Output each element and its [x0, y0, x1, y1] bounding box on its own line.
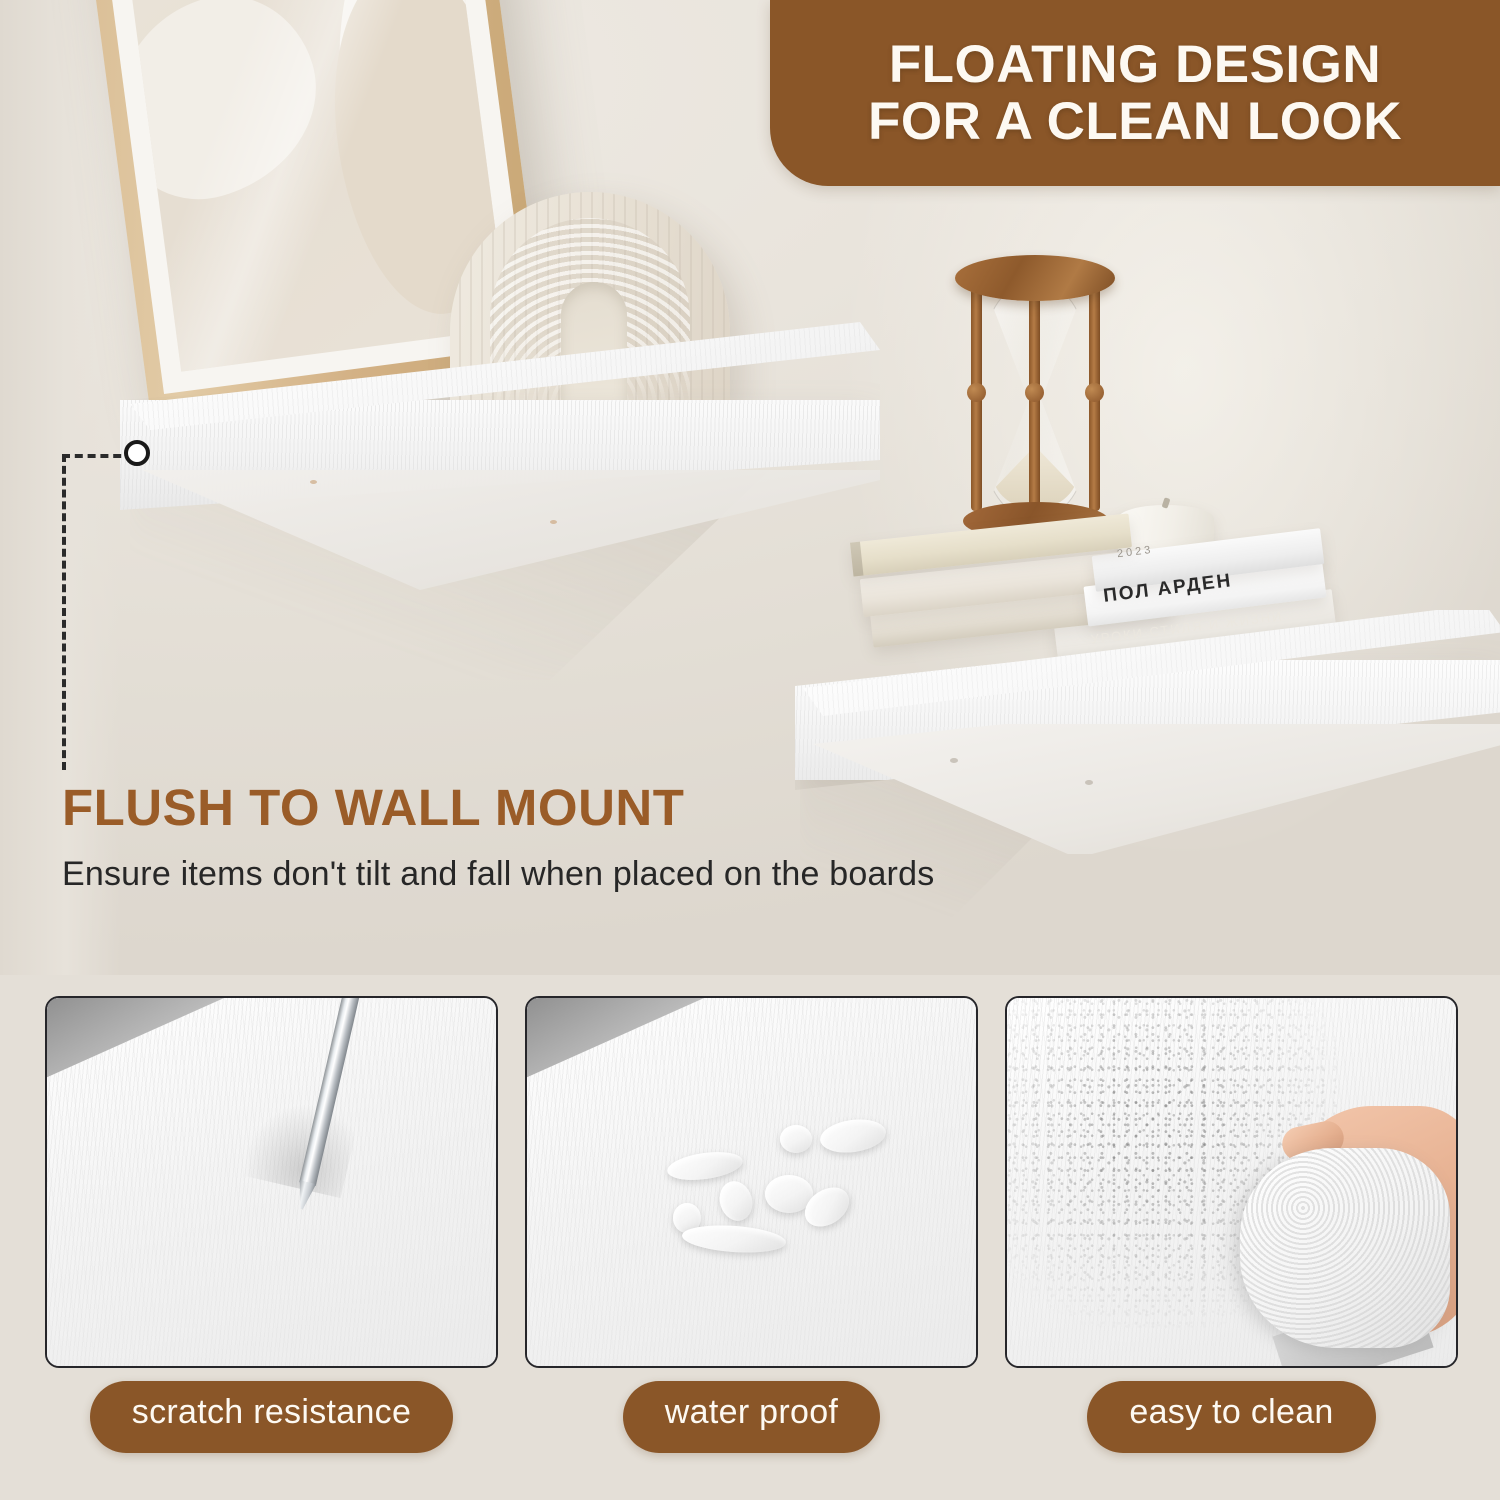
- shelf-screw-hole: [310, 480, 317, 484]
- hourglass-bead: [967, 383, 986, 402]
- feature-panel-row: [45, 996, 1458, 1368]
- pill-slot: scratch resistance: [45, 1381, 498, 1453]
- hourglass-top-disc: [955, 255, 1115, 301]
- callout-line-vertical: [62, 454, 66, 770]
- section-headline: FLUSH TO WALL MOUNT: [62, 778, 684, 837]
- banner-line-2: FOR A CLEAN LOOK: [868, 93, 1402, 150]
- callout-dot-icon: [124, 440, 150, 466]
- water-droplet: [780, 1125, 812, 1153]
- flush-mount-callout: [62, 440, 152, 770]
- hourglass-bead: [1085, 383, 1104, 402]
- art-canvas: [107, 0, 509, 372]
- floating-shelf-upper: [120, 320, 880, 550]
- pill-slot: water proof: [525, 1381, 978, 1453]
- feature-pill-scratch-resistance[interactable]: scratch resistance: [90, 1381, 453, 1453]
- wood-grain-surface: [527, 998, 976, 1366]
- feature-pill-water-proof[interactable]: water proof: [623, 1381, 880, 1453]
- feature-image-easy-to-clean: [1005, 996, 1458, 1368]
- banner-line-1: FLOATING DESIGN: [868, 36, 1402, 93]
- feature-pill-easy-to-clean[interactable]: easy to clean: [1087, 1381, 1375, 1453]
- shelf-underside: [795, 724, 1500, 854]
- pill-slot: easy to clean: [1005, 1381, 1458, 1453]
- hourglass-bead: [1025, 383, 1044, 402]
- art-glass-glare: [107, 0, 509, 372]
- banner-headline: FLOATING DESIGN FOR A CLEAN LOOK: [868, 36, 1402, 150]
- hourglass: [955, 255, 1115, 540]
- shelf-screw-hole: [550, 520, 557, 524]
- shelf-screw-hole: [1085, 780, 1093, 785]
- header-banner: FLOATING DESIGN FOR A CLEAN LOOK: [770, 0, 1500, 186]
- floating-shelf-lower: [795, 640, 1500, 880]
- shelf-screw-hole: [950, 758, 958, 763]
- feature-image-scratch-resistance: [45, 996, 498, 1368]
- microfiber-cloth: [1240, 1148, 1450, 1348]
- feature-image-water-proof: [525, 996, 978, 1368]
- section-subline: Ensure items don't tilt and fall when pl…: [62, 855, 934, 894]
- feature-label-row: scratch resistance water proof easy to c…: [45, 1381, 1458, 1453]
